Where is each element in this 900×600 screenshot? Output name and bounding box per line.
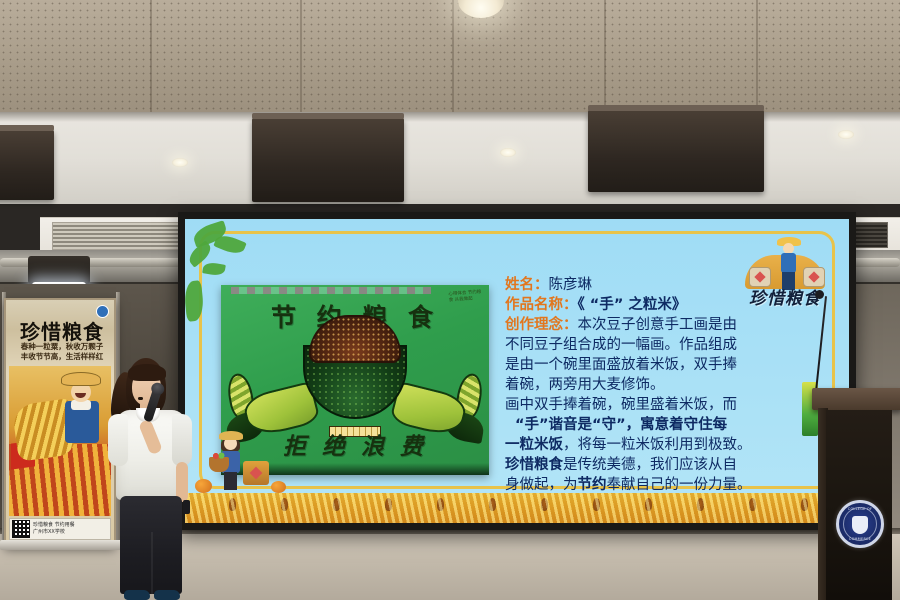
handwritten-note: 心得体会 节约粮食 从我做起 <box>448 290 483 314</box>
field-concept-value: 本次豆子创意手工画是由 <box>578 317 738 333</box>
ceiling-speaker <box>0 130 54 200</box>
led-screen[interactable]: 节 约 粮 食 心得体会 节约粮食 从我做起 拒 绝 浪 费 <box>178 212 856 530</box>
body-line: 着碗，两旁用大麦修饰。 <box>505 375 813 395</box>
farmer-hat-icon <box>61 372 101 386</box>
lectern-podium: COLLEGE OF COMMERCE <box>818 388 896 600</box>
field-name-value: 陈彦琳 <box>549 277 593 293</box>
body-line: 是由一个碗里面盛放着米饭，双手捧 <box>505 355 813 375</box>
recessed-downlight <box>500 148 516 157</box>
recessed-downlight <box>838 130 854 139</box>
artwork-tape <box>231 287 431 294</box>
emblem-bottom-text: COMMERCE <box>839 537 881 541</box>
emphasis-rest: 是传统美德，我们应该从自 <box>563 457 737 473</box>
emphasis-bold: 节约 <box>578 477 607 493</box>
college-crest-emblem: COLLEGE OF COMMERCE <box>836 500 884 548</box>
grain-sack-icon <box>243 461 269 485</box>
banner-footer-line2: 广州市XX学校 <box>33 529 75 536</box>
emphasis-pre: 身做起，为 <box>505 477 578 493</box>
emphasis-rest: ，将每一粒米饭利用到极致。 <box>563 437 752 453</box>
banner-footer-text: 珍惜粮食 节约用餐 广州市XX学校 <box>33 522 75 536</box>
harvest-girl-decoration <box>209 431 295 497</box>
harvest-basket-icon <box>209 457 229 472</box>
emblem-shield-icon <box>852 516 868 534</box>
stage-light <box>28 256 90 284</box>
emphasis-line: 身做起，为节约奉献自己的一份力量。 <box>505 475 813 495</box>
hair-bangs <box>128 364 166 381</box>
podium-mic-head[interactable] <box>815 290 824 299</box>
qr-code-icon[interactable] <box>12 520 30 538</box>
body-line: 不同豆子组合成的一幅画。作品组成 <box>505 335 813 355</box>
recessed-downlight <box>172 158 188 167</box>
body-line: 画中双手捧着碗，碗里盛着米饭，而 <box>505 395 813 415</box>
girl-hat-icon <box>219 431 243 440</box>
ceiling-perforation-texture <box>0 0 900 120</box>
emphasis-bold: 珍惜粮食 <box>505 457 563 473</box>
wheat-field-strip <box>185 493 849 523</box>
field-worktitle-value: 《 “手” 之粒米》 <box>578 297 687 313</box>
shoe-left <box>124 590 150 600</box>
emblem-top-text: COLLEGE OF <box>839 507 881 511</box>
emphasis-line: “手”谐音是“守”，寓意着守住每 <box>505 415 813 435</box>
girl-legs-icon <box>224 472 237 490</box>
banner-title: 珍惜粮食 <box>10 316 114 345</box>
emphasis-post: 奉献自己的一份力量。 <box>607 477 752 493</box>
presenter-person <box>96 358 202 600</box>
farmer-body-icon <box>781 253 796 273</box>
ceiling-speaker <box>588 110 764 192</box>
banner-footer-line1: 珍惜粮食 节约用餐 <box>33 522 75 529</box>
ceiling-soffit <box>0 112 900 204</box>
sleeve-right <box>172 414 192 466</box>
presenter-remote[interactable] <box>183 500 190 514</box>
field-concept-row: 创作理念：本次豆子创意手工画是由 <box>505 315 813 335</box>
pumpkin-icon <box>271 481 286 493</box>
emphasis-bold: 一粒米饭 <box>505 437 563 453</box>
soffit-shadow <box>0 112 900 122</box>
field-worktitle-label: 作品名称： <box>505 297 578 313</box>
shoe-right <box>154 590 180 600</box>
field-name-label: 姓名： <box>505 277 549 293</box>
sleeve-left <box>108 414 128 466</box>
presentation-slide: 节 约 粮 食 心得体会 节约粮食 从我做起 拒 绝 浪 费 <box>185 219 849 523</box>
field-concept-label: 创作理念： <box>505 317 578 333</box>
auditorium-scene: 节 约 粮 食 心得体会 节约粮食 从我做起 拒 绝 浪 费 <box>0 0 900 600</box>
banner-subtitle-line1: 春种一粒粟，秋收万颗子 <box>10 342 114 352</box>
emphasis-line: 珍惜粮食是传统美德，我们应该从自 <box>505 455 813 475</box>
emphasis-line: 一粒米饭，将每一粒米饭利用到极致。 <box>505 435 813 455</box>
ceiling-acoustic-panel <box>0 0 900 120</box>
podium-top <box>812 388 900 410</box>
dark-trousers <box>120 496 182 594</box>
ceiling-speaker <box>252 118 404 202</box>
